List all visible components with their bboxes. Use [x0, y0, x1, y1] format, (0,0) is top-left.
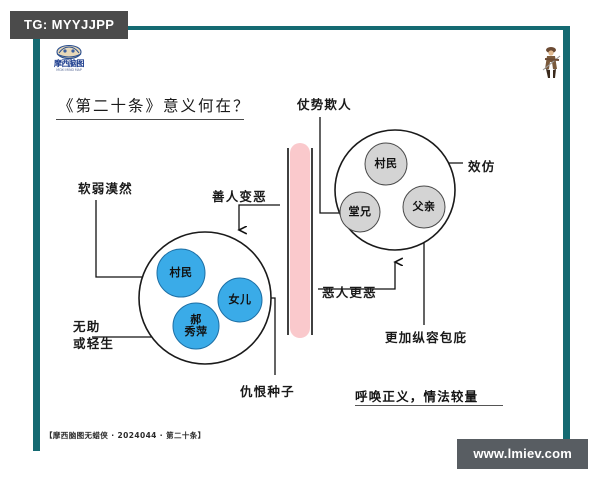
swordsman-figure-icon — [538, 45, 564, 79]
label-weak-indifferent: 软弱漠然 — [78, 178, 133, 197]
slide-canvas: 摩西脑图 MOXI MIND MAP 《第二十条》意义何在？ — [0, 0, 600, 480]
tg-handle-badge: TG: MYYJJPP — [10, 11, 128, 39]
logo-wordmark: 摩西脑图 — [47, 59, 91, 68]
label-helpless-suicide-line2: 或轻生 — [73, 336, 114, 351]
node-label-father: 父亲 — [405, 201, 443, 213]
label-imitate: 效仿 — [468, 156, 495, 175]
logo-subtitle: MOXI MIND MAP — [47, 68, 91, 72]
label-more-conniving: 更加纵容包庇 — [385, 327, 467, 346]
node-label-cousin: 堂兄 — [341, 206, 379, 218]
label-bully-with-power: 仗势欺人 — [297, 94, 352, 113]
slide-frame-border — [33, 26, 570, 451]
conclusion-text: 呼唤正义，情法较量 — [355, 386, 478, 405]
label-helpless-suicide: 无助 或轻生 — [73, 318, 133, 352]
label-evil-more-evil: 恶人更恶 — [322, 282, 377, 301]
conclusion-underline — [355, 405, 503, 406]
node-label-villager-left: 村民 — [161, 267, 201, 279]
label-helpless-suicide-line1: 无助 — [73, 319, 100, 334]
slide-title: 《第二十条》意义何在？ — [58, 94, 251, 116]
title-underline — [56, 119, 244, 120]
label-good-turns-evil: 善人变恶 — [212, 186, 267, 205]
slide-footnote: 【摩西脑图无蜡侠 · 2024044 · 第二十条】 — [45, 430, 206, 441]
label-seed-of-hatred: 仇恨种子 — [240, 381, 295, 400]
node-label-villager-right: 村民 — [367, 158, 405, 170]
node-label-hao-xiuping-line2: 秀萍 — [185, 325, 208, 338]
node-label-daughter: 女儿 — [220, 294, 260, 306]
site-watermark: www.lmiev.com — [457, 439, 588, 469]
node-label-hao-xiuping: 郝 秀萍 — [176, 314, 216, 338]
moxi-mindmap-logo: 摩西脑图 MOXI MIND MAP — [47, 44, 91, 74]
brain-cloud-icon — [47, 44, 91, 60]
